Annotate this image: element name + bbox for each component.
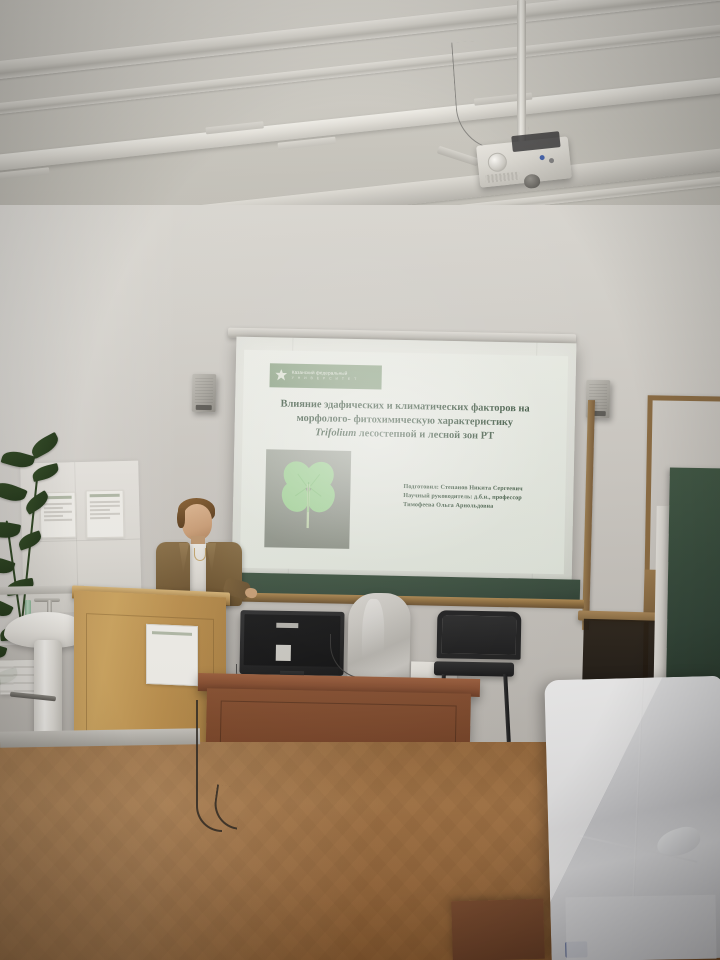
four-leaf-clover-icon xyxy=(276,456,339,531)
kfu-logo: Казанский федеральный У Н И В Е Р С И Т … xyxy=(269,363,381,389)
slide-title: Влияние эдафических и климатических факт… xyxy=(256,397,553,445)
clover-photo xyxy=(264,449,351,549)
chair-seat xyxy=(434,661,514,676)
presenter-head xyxy=(182,504,212,540)
chair-backrest xyxy=(437,610,522,659)
slide-title-line3-rest: лесостепной и лесной зон РТ xyxy=(356,428,494,442)
computer-monitor xyxy=(239,610,344,676)
sink-pedestal xyxy=(34,640,62,740)
projector-vent xyxy=(485,172,520,184)
kfu-emblem-icon xyxy=(275,369,288,382)
projector-lens-icon xyxy=(487,152,508,173)
wall-notice-right xyxy=(86,490,125,539)
projector-mount-pole xyxy=(517,0,526,146)
ceiling xyxy=(0,0,720,232)
wall-speaker-left xyxy=(192,374,217,412)
monitor-label xyxy=(276,623,298,628)
presenter-hair-side xyxy=(177,508,185,528)
lectern-notice xyxy=(146,624,198,686)
chalkboard-right-panel xyxy=(666,467,720,686)
projection-screen: Казанский федеральный У Н И В Е Р С И Т … xyxy=(232,337,577,588)
projector-cable-bundle xyxy=(511,131,560,152)
kfu-logo-line2: У Н И В Е Р С И Т Е Т xyxy=(292,377,358,382)
lecture-hall-photo: Казанский федеральный У Н И В Е Р С И Т … xyxy=(0,0,720,960)
slide-author-block: Подготовил: Степанов Никита Сергеевич На… xyxy=(403,483,556,514)
white-sheet-lower xyxy=(565,895,716,960)
monitor-sticker xyxy=(276,645,291,661)
low-wooden-box xyxy=(451,899,545,960)
slide-author-line-2: Тимофеева Ольга Арнольдовна xyxy=(403,501,555,513)
slide-title-genus: Trifolium xyxy=(315,427,356,439)
sheet-knot xyxy=(654,823,704,861)
projected-slide: Казанский федеральный У Н И В Е Р С И Т … xyxy=(240,350,568,574)
presenter-necklace xyxy=(194,548,206,561)
ceiling-cornice-upper xyxy=(0,0,720,98)
